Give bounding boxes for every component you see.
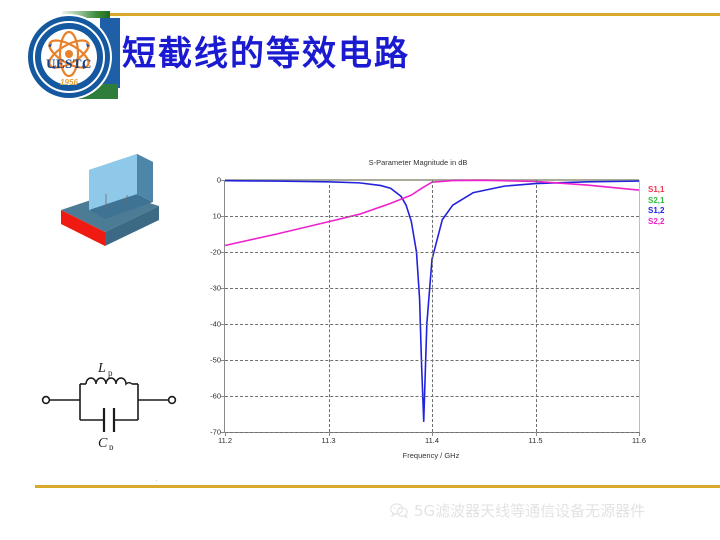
y-tick-mark (221, 216, 225, 217)
chart-title: S-Parameter Magnitude in dB (196, 158, 640, 167)
inductor-coil-icon (86, 378, 132, 384)
chart-legend: S1,1S2,1S1,2S2,2 (648, 185, 664, 227)
capacitor-sublabel: p (109, 442, 114, 450)
left-terminal-node (43, 397, 50, 404)
legend-item-S2-1[interactable]: S2,1 (648, 196, 664, 207)
3d-structure-illustration (55, 148, 165, 253)
x-axis-label: Frequency / GHz (224, 451, 638, 460)
s-parameter-chart: S-Parameter Magnitude in dB 010-20-30-40… (196, 155, 696, 475)
uestc-logo: UESTC 1956 (28, 16, 110, 98)
grid-line-vertical (329, 180, 330, 432)
y-tick-label: -30 (210, 284, 221, 293)
legend-item-S1-2[interactable]: S1,2 (648, 206, 664, 217)
y-tick-mark (221, 252, 225, 253)
slide-canvas: UESTC 1956 短截线的等效电路 (0, 0, 720, 540)
page-title: 短截线的等效电路 (122, 26, 410, 75)
y-tick-label: 10 (213, 212, 221, 221)
watermark-text: 5G滤波器天线等通信设备无源器件 (414, 500, 645, 521)
y-tick-mark (221, 288, 225, 289)
x-tick-label: 11.4 (425, 436, 439, 445)
grid-line-vertical (536, 180, 537, 432)
footer-bullet: · (155, 475, 158, 485)
y-tick-mark (221, 360, 225, 361)
capacitor-label: C (98, 436, 108, 450)
y-tick-mark (221, 324, 225, 325)
x-tick-label: 11.3 (321, 436, 335, 445)
legend-item-S2-2[interactable]: S2,2 (648, 217, 664, 228)
y-tick-label: -60 (210, 392, 221, 401)
equivalent-circuit-diagram: L p C p (34, 350, 184, 450)
logo-wordmark: UESTC (28, 56, 110, 72)
chart-plot-area: 010-20-30-40-50-60-7011.211.311.411.511.… (224, 180, 639, 433)
y-tick-label: -50 (210, 356, 221, 365)
y-tick-label: 0 (217, 176, 221, 185)
upper-block-right-face (137, 154, 153, 202)
footer-gold-rule (35, 485, 720, 488)
plot-right-rule (639, 180, 640, 432)
y-tick-mark (221, 396, 225, 397)
legend-item-S1-1[interactable]: S1,1 (648, 185, 664, 196)
watermark: 5G滤波器天线等通信设备无源器件 (390, 500, 645, 521)
wechat-icon (390, 503, 408, 518)
inductor-sublabel: p (108, 368, 113, 378)
header-gold-rule (110, 13, 720, 16)
grid-line-vertical (432, 180, 433, 432)
x-tick-label: 11.5 (528, 436, 542, 445)
y-tick-label: -20 (210, 248, 221, 257)
right-terminal-node (169, 397, 176, 404)
x-tick-label: 11.6 (632, 436, 646, 445)
x-tick-label: 11.2 (218, 436, 232, 445)
y-tick-mark (221, 180, 225, 181)
y-tick-label: -40 (210, 320, 221, 329)
inductor-label: L (97, 361, 106, 376)
logo-year: 1956 (28, 78, 110, 87)
